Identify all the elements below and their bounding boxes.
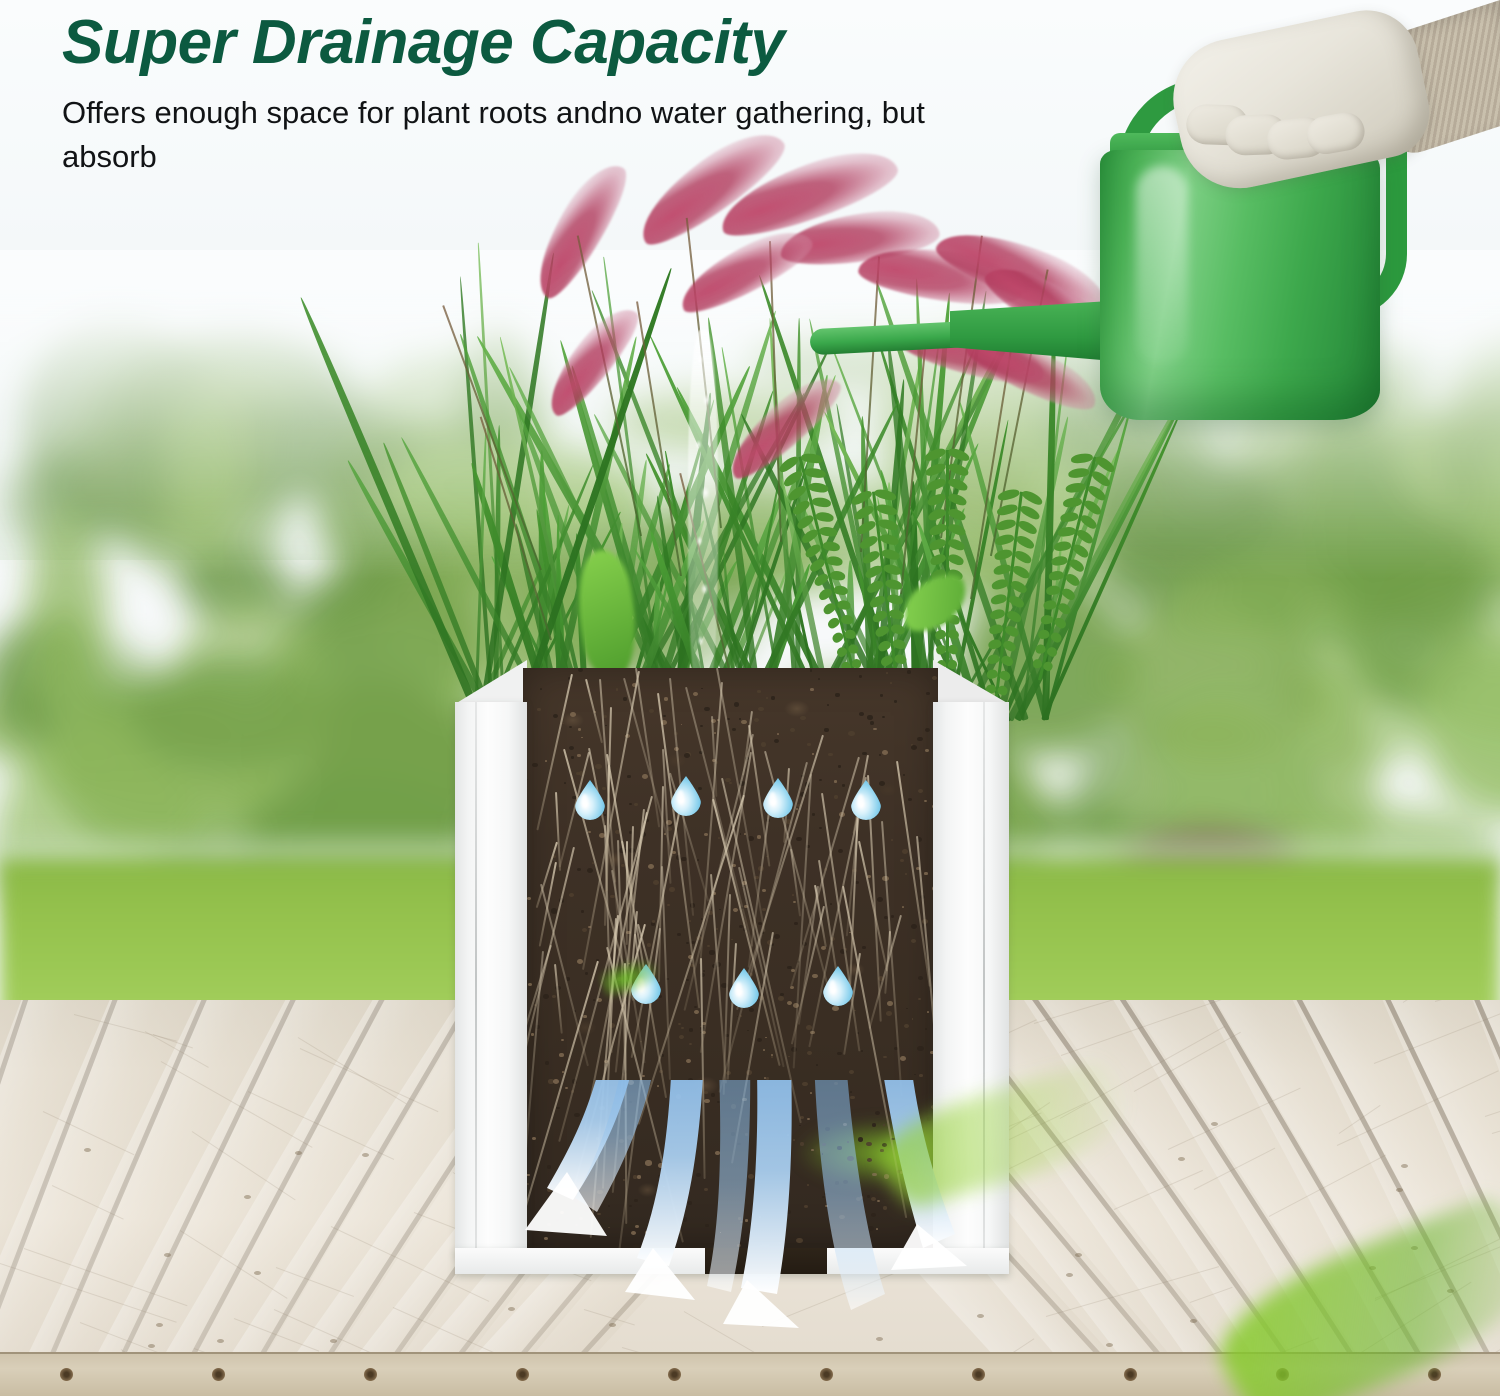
soil-grain (877, 1200, 880, 1202)
soil-grain (532, 763, 538, 768)
deck-nail (1396, 1188, 1403, 1192)
soil-grain (605, 725, 607, 727)
soil-grain (924, 872, 927, 875)
soil-grain (842, 784, 845, 787)
fern-leaflet (929, 552, 947, 566)
soil-grain (917, 737, 923, 742)
soil-grain (749, 1008, 754, 1012)
soil-grain (669, 887, 675, 892)
soil-grain (714, 732, 716, 734)
soil-grain (867, 715, 873, 719)
deck-nail (362, 1153, 369, 1157)
soil-grain (731, 939, 733, 940)
soil-grain (552, 995, 556, 998)
soil-grain (812, 974, 817, 978)
soil-grain (877, 897, 883, 902)
soil-grain (676, 1094, 682, 1098)
fern-leaflet (885, 578, 903, 591)
fern-leaflet (992, 563, 1011, 576)
soil-grain (564, 782, 566, 784)
soil-grain (588, 831, 590, 833)
soil-grain (610, 1119, 614, 1122)
soil-grain (882, 716, 885, 719)
soil-grain (587, 868, 593, 873)
fern-leaflet (1053, 616, 1068, 630)
soil-grain (597, 1213, 601, 1216)
fern-leaflet (1059, 511, 1078, 522)
soil-grain (684, 753, 690, 758)
soil-grain (704, 833, 708, 836)
soil-grain (871, 1197, 876, 1201)
fern-leaflet (1057, 601, 1073, 616)
soil-grain (715, 1151, 720, 1155)
soil-grain (788, 1056, 790, 1058)
deck-edge-knot (972, 1368, 985, 1381)
soil-grain (719, 909, 721, 911)
fern-leaflet (822, 541, 840, 552)
soil-grain (731, 1104, 736, 1108)
soil-grain (761, 742, 767, 747)
soil-grain (642, 774, 648, 779)
soil-grain (608, 1205, 611, 1207)
soil-grain (583, 1015, 586, 1018)
soil-cross-section (523, 668, 938, 1248)
soil-grain (651, 922, 656, 926)
soil-grain (720, 1232, 722, 1233)
soil-grain (835, 1181, 839, 1184)
soil-grain (556, 1107, 559, 1110)
fern-leaflet (947, 552, 965, 566)
soil-grain (825, 1127, 830, 1131)
soil-grain (737, 1244, 741, 1247)
soil-grain (543, 994, 549, 999)
soil-grain (732, 728, 736, 731)
plant-root (554, 963, 563, 1033)
soil-grain (786, 1210, 791, 1214)
deck-nail (609, 1323, 616, 1327)
soil-grain (555, 1242, 559, 1245)
soil-grain (648, 864, 654, 869)
text-block: Super Drainage Capacity Offers enough sp… (62, 8, 1122, 179)
soil-grain (824, 1193, 826, 1195)
soil-grain (653, 880, 659, 885)
soil-grain (629, 803, 631, 805)
soil-grain (689, 1028, 693, 1031)
soil-grain (804, 1205, 808, 1208)
soil-grain (819, 779, 822, 781)
tree-blob (1154, 684, 1288, 850)
fern-leaflet (990, 593, 1007, 606)
soil-grain (652, 920, 655, 923)
soil-grain (762, 889, 766, 892)
soil-grain (579, 1217, 583, 1220)
soil-grain (904, 1024, 909, 1028)
fern-leaflet (991, 578, 1009, 591)
soil-grain (872, 1173, 877, 1177)
soil-grain (838, 849, 844, 853)
soil-grain (855, 881, 859, 884)
soil-grain (677, 1122, 680, 1124)
soil-grain (830, 1229, 835, 1233)
soil-grain (762, 908, 766, 911)
soil-grain (704, 1091, 708, 1094)
soil-grain (623, 697, 627, 700)
soil-grain (872, 1123, 877, 1127)
soil-grain (777, 1130, 782, 1134)
soil-grain (642, 1075, 645, 1077)
fern-leaflet (844, 629, 856, 639)
soil-grain (919, 1074, 923, 1077)
soil-grain (532, 1137, 536, 1140)
soil-grain (879, 781, 885, 786)
soil-grain (900, 859, 904, 862)
deck-nail (295, 1151, 302, 1155)
soil-grain (847, 1156, 853, 1161)
soil-grain (647, 943, 652, 947)
soil-grain (764, 1213, 766, 1215)
soil-grain (685, 1169, 688, 1171)
fern-leaflet (997, 488, 1021, 502)
soil-grain (544, 1237, 548, 1240)
soil-grain (868, 1226, 874, 1231)
soil-grain (637, 1175, 641, 1178)
soil-grain (861, 1050, 863, 1052)
soil-grain (918, 998, 922, 1001)
plant-cluster (430, 150, 1090, 720)
soil-grain (757, 1038, 762, 1042)
soil-grain (927, 1206, 929, 1207)
soil-grain (701, 688, 703, 689)
soil-grain (764, 1224, 769, 1228)
soil-grain (828, 753, 832, 756)
soil-grain (582, 928, 587, 932)
soil-grain (584, 1209, 589, 1213)
deck-edge-knot (1428, 1368, 1441, 1381)
soil-grain (681, 724, 683, 725)
soil-grain (729, 782, 732, 785)
soil-grain (891, 915, 895, 918)
soil-grain (578, 728, 581, 730)
soil-grain (602, 787, 606, 790)
fern-leaflet (815, 511, 834, 522)
planter-rim-left (455, 660, 527, 704)
soil-grain (559, 1053, 563, 1057)
fern-leaflet (925, 477, 947, 493)
soil-grain (739, 718, 741, 719)
soil-grain (595, 764, 601, 769)
soil-grain (807, 743, 810, 746)
soil-grain (553, 714, 558, 718)
soil-grain (748, 1174, 754, 1179)
soil-grain (883, 1206, 887, 1210)
soil-grain (911, 745, 917, 750)
soil-grain (738, 1217, 742, 1220)
fern-leaflet (841, 614, 854, 625)
soil-grain (925, 728, 930, 732)
page-subtitle: Offers enough space for plant roots andn… (62, 91, 972, 179)
fern-leaflet (1002, 639, 1018, 653)
deck-edge-knot (516, 1368, 529, 1381)
soil-grain (694, 1006, 697, 1008)
soil-grain (758, 1080, 762, 1083)
soil-grain (774, 1243, 779, 1247)
soil-grain (556, 1219, 560, 1222)
fern-leaflet (1049, 631, 1063, 645)
soil-grain (905, 873, 908, 875)
soil-grain (696, 1173, 701, 1177)
soil-grain (886, 672, 889, 674)
fern-leaflet (795, 513, 815, 531)
soil-grain (688, 1078, 693, 1082)
soil-grain (887, 1001, 893, 1006)
soil-grain (705, 1224, 708, 1227)
planter-rim-right (933, 660, 1009, 704)
soil-grain (907, 670, 911, 673)
soil-grain (764, 1077, 766, 1079)
soil-grain (837, 1052, 841, 1055)
soil-grain (635, 1225, 639, 1228)
deck-nail (84, 1148, 91, 1152)
soil-grain (547, 1165, 552, 1169)
soil-grain (800, 716, 806, 721)
soil-grain (619, 1139, 625, 1144)
soil-grain (880, 694, 883, 697)
fern-leaflet (1054, 541, 1072, 552)
soil-grain (616, 688, 619, 690)
soil-grain (819, 827, 822, 829)
tree-blob (131, 656, 328, 770)
fern-leaflet (1065, 482, 1086, 494)
soil-grain (707, 945, 709, 947)
soil-grain (569, 893, 574, 897)
soil-grain (850, 1096, 855, 1100)
soil-grain (695, 1119, 699, 1122)
soil-grain (777, 733, 779, 735)
deck-edge-knot (60, 1368, 73, 1381)
soil-grain (765, 1037, 767, 1039)
plant-root (700, 958, 706, 1179)
soil-grain (839, 1215, 844, 1219)
deck-nail (876, 1337, 883, 1341)
soil-grain (850, 1091, 852, 1093)
soil-grain (780, 993, 784, 996)
water-droplet-4 (851, 780, 881, 820)
fern-frond (932, 450, 962, 680)
soil-grain (911, 939, 916, 943)
soil-grain (717, 1101, 720, 1103)
soil-grain (811, 1149, 813, 1151)
soil-grain (911, 924, 917, 929)
soil-grain (627, 775, 631, 778)
soil-grain (577, 868, 581, 871)
soil-grain (882, 750, 888, 755)
soil-grain (527, 897, 531, 900)
soil-grain (796, 1238, 802, 1243)
soil-grain (629, 1205, 632, 1208)
deck-edge-knot (1124, 1368, 1137, 1381)
soil-grain (676, 1171, 679, 1174)
soil-grain (876, 1228, 879, 1230)
soil-grain (569, 746, 574, 750)
fern-leaflet (1060, 586, 1077, 601)
soil-grain (773, 1122, 775, 1124)
soil-grain (796, 837, 801, 841)
soil-grain (793, 901, 796, 903)
page-title: Super Drainage Capacity (62, 8, 1122, 77)
soil-grain (763, 1049, 765, 1051)
soil-grain (918, 976, 923, 980)
soil-grain (663, 715, 666, 718)
soil-grain (545, 760, 547, 762)
soil-grain (774, 739, 779, 743)
fern-leaflet (866, 579, 885, 595)
soil-grain (891, 839, 893, 841)
soil-grain (575, 1224, 578, 1227)
soil-grain (859, 712, 864, 716)
soil-grain (757, 835, 761, 838)
watering-can-assembly (1080, 0, 1500, 470)
soil-grain (757, 690, 760, 693)
soil-grain (875, 1111, 881, 1115)
soil-grain (787, 1134, 789, 1136)
deck-nail (217, 1339, 224, 1343)
fern-leaflet (1019, 503, 1042, 521)
soil-grain (631, 1231, 636, 1235)
soil-grain (734, 702, 739, 706)
fern-leaflet (1017, 518, 1039, 536)
soil-grain (579, 1235, 581, 1237)
soil-grain (862, 946, 866, 949)
soil-grain (677, 933, 681, 936)
soil-grain (716, 928, 718, 929)
glove-finger-4 (1304, 110, 1368, 157)
soil-grain (733, 908, 738, 912)
soil-grain (747, 1030, 749, 1031)
soil-grain (810, 669, 813, 671)
soil-grain (689, 1043, 692, 1046)
soil-grain (577, 754, 580, 757)
soil-grain (758, 707, 764, 712)
soil-grain (774, 934, 780, 939)
soil-grain (810, 1092, 812, 1094)
fern-leaflet (947, 522, 967, 537)
soil-grain (578, 668, 583, 672)
soil-grain (604, 814, 606, 815)
plant-root (738, 867, 785, 1068)
tree-blob (164, 388, 245, 557)
soil-grain (658, 1175, 661, 1177)
soil-grain (689, 920, 691, 922)
soil-grain (810, 688, 814, 691)
soil-grain (740, 1221, 743, 1223)
deck-edge-knot (212, 1368, 225, 1381)
soil-grain (629, 1101, 632, 1104)
soil-grain (863, 1237, 865, 1239)
soil-grain (739, 925, 743, 929)
soil-grain (657, 1085, 659, 1087)
soil-grain (873, 728, 876, 731)
fern-leaflet (1051, 555, 1068, 566)
plume-stem (636, 301, 682, 576)
fern-leaflet (928, 537, 947, 552)
soil-grain (569, 726, 572, 729)
soil-grain (552, 1188, 556, 1191)
soil-grain (759, 1216, 761, 1217)
soil-grain (906, 1008, 908, 1010)
soil-grain (802, 1082, 808, 1087)
soil-grain (571, 756, 574, 759)
soil-grain (894, 700, 897, 702)
soil-grain (916, 1223, 922, 1227)
soil-grain (667, 904, 669, 906)
soil-grain (771, 696, 775, 699)
soil-grain (900, 1056, 906, 1061)
soil-grain (679, 1035, 684, 1039)
soil-grain (682, 1217, 687, 1221)
soil-grain (849, 1070, 854, 1074)
soil-grain (914, 1074, 916, 1075)
soil-grain (818, 678, 820, 680)
soil-grain (870, 721, 874, 724)
soil-grain (700, 725, 702, 727)
fern-leaflet (947, 477, 969, 493)
soil-grain (547, 1188, 552, 1192)
soil-grain (745, 1133, 748, 1136)
fern-leaflet (1021, 488, 1045, 507)
soil-grain (704, 707, 709, 711)
fern-leaflet (947, 446, 971, 463)
deck-edge-knot (820, 1368, 833, 1381)
planter-wall-left (455, 702, 527, 1257)
soil-grain (924, 800, 927, 802)
planter-drain-gap (705, 1248, 827, 1274)
water-droplet-2 (671, 776, 701, 816)
soil-grain (547, 1223, 551, 1226)
soil-grain (740, 833, 742, 834)
soil-grain (664, 697, 668, 700)
panel-seam-left (475, 702, 477, 1257)
soil-grain (573, 1198, 579, 1203)
soil-grain (585, 972, 589, 975)
soil-grain (794, 922, 797, 925)
soil-grain (838, 765, 841, 767)
soil-grain (824, 728, 828, 731)
soil-grain (537, 708, 540, 711)
deck-nail (1106, 1343, 1113, 1347)
soil-grain (737, 1143, 740, 1146)
soil-grain (835, 693, 839, 696)
deck-edge-knot (668, 1368, 681, 1381)
soil-grain (565, 1087, 568, 1089)
soil-grain (912, 1018, 914, 1019)
soil-grain (766, 1077, 769, 1080)
soil-grain (847, 1141, 849, 1143)
soil-grain (553, 1079, 559, 1084)
soil-grain (671, 1188, 676, 1192)
fern-leaflet (1004, 624, 1021, 639)
soil-grain (704, 1188, 708, 1191)
watering-can-body (1100, 150, 1380, 420)
soil-grain (932, 676, 937, 680)
plant-root (635, 668, 660, 828)
soil-grain (581, 737, 583, 738)
soil-grain (816, 1064, 819, 1066)
soil-grain (771, 1056, 773, 1058)
deck-nail (977, 1314, 984, 1318)
soil-grain (574, 1113, 580, 1117)
soil-grain (917, 1046, 923, 1051)
soil-grain (812, 813, 816, 816)
